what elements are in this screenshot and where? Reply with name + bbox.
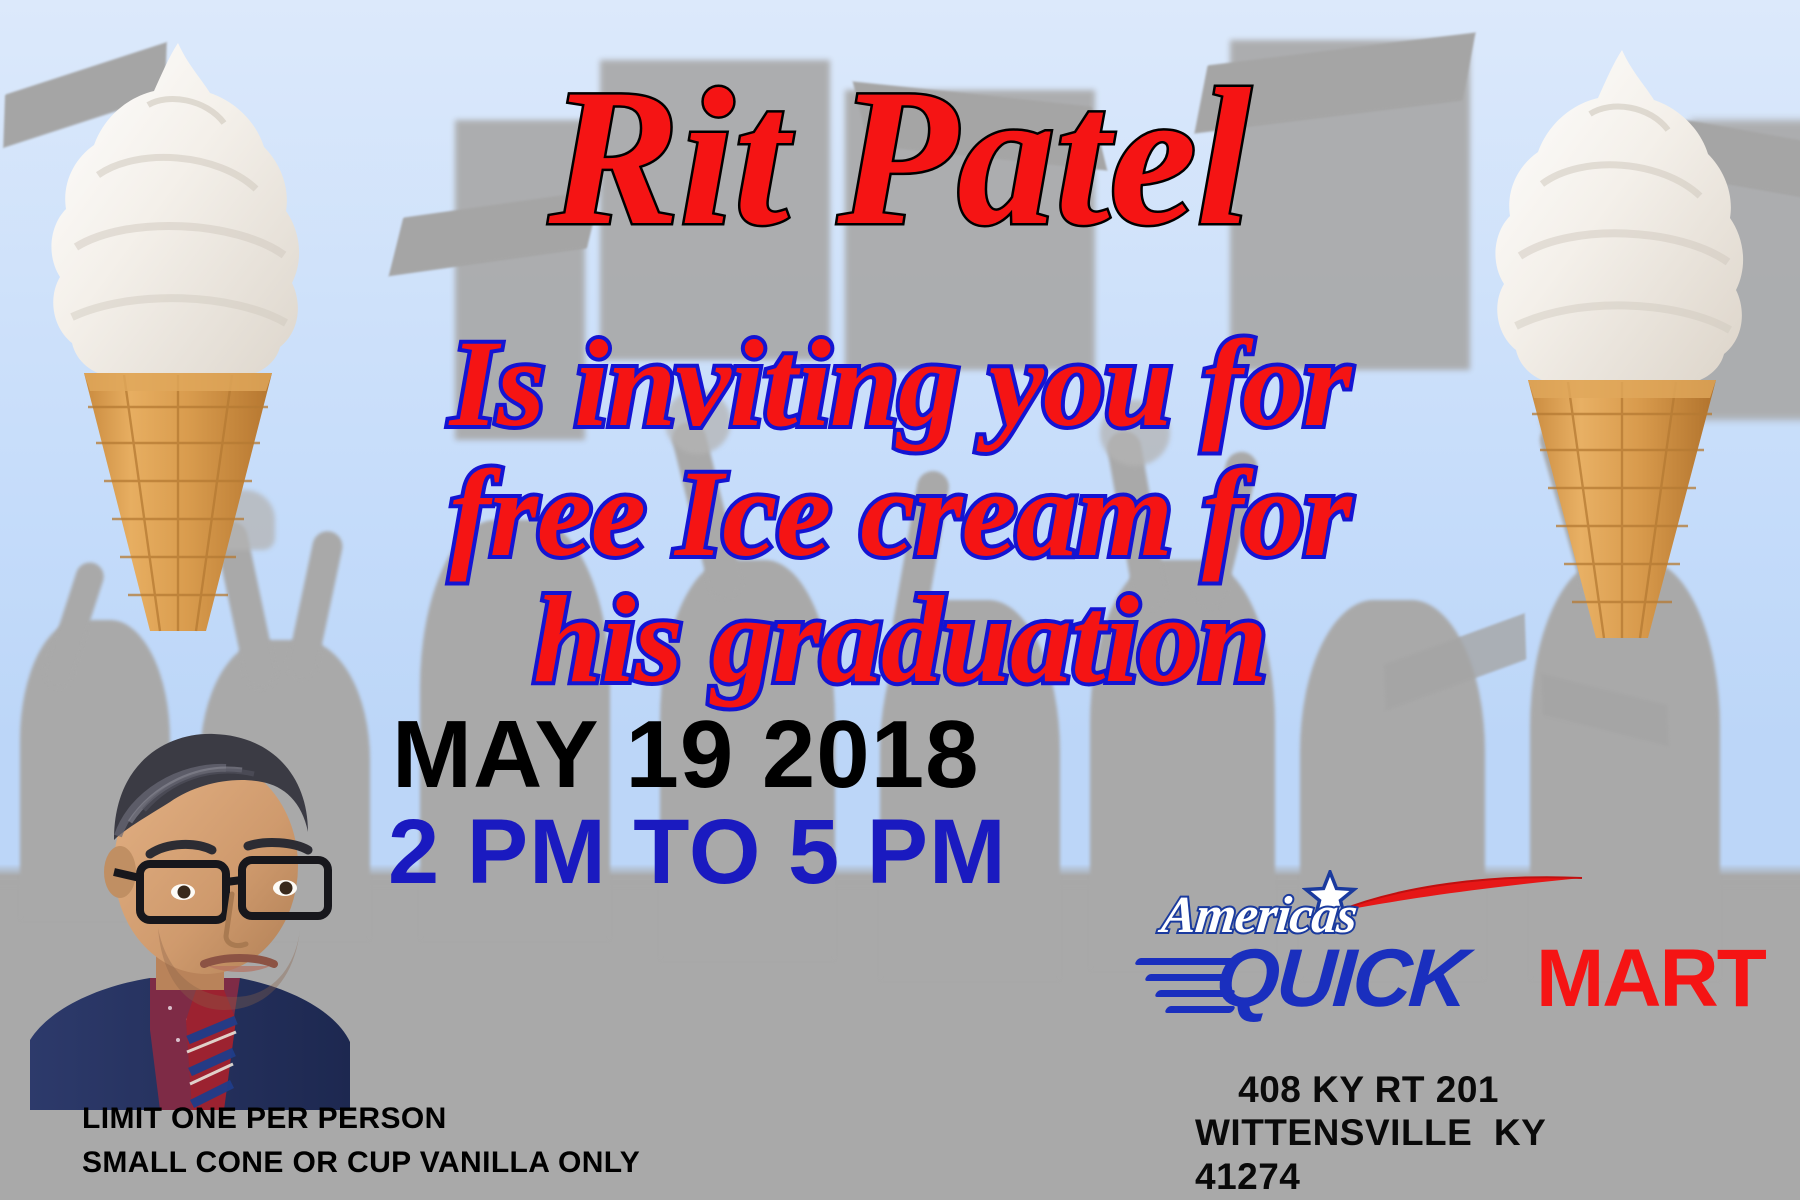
- invite-line-3-text: his graduation: [533, 571, 1267, 708]
- fineprint-line-1: LIMIT ONE PER PERSON: [82, 1102, 447, 1136]
- graduation-invitation-poster: Rit Patel Is inviting you for free Ice c…: [0, 0, 1800, 1200]
- invite-line-3: his graduation: [0, 578, 1800, 702]
- fineprint-line-1-text: LIMIT ONE PER PERSON: [82, 1102, 447, 1135]
- brand-quick: QUICK: [1213, 932, 1469, 1026]
- brand-quick-text: QUICK: [1213, 933, 1469, 1024]
- invite-line-1: Is inviting you for: [0, 322, 1800, 446]
- store-address-text: 408 KY RT 201 WITTENSVILLE KY 41274: [1195, 1069, 1546, 1197]
- store-address: 408 KY RT 201 WITTENSVILLE KY 41274: [1195, 1024, 1546, 1200]
- americas-quick-mart-logo: Americas QUICK MART: [1150, 880, 1770, 1020]
- invite-line-2: free Ice cream for: [0, 452, 1800, 576]
- invite-line-1-text: Is inviting you for: [450, 315, 1351, 452]
- fineprint-line-2: SMALL CONE OR CUP VANILLA ONLY: [82, 1146, 640, 1180]
- event-date: MAY 19 2018: [392, 700, 979, 810]
- graduate-portrait: [10, 690, 350, 1110]
- event-date-text: MAY 19 2018: [392, 701, 979, 808]
- page-title: Rit Patel: [0, 60, 1800, 256]
- headline-text: Rit Patel: [549, 49, 1251, 266]
- red-swoosh-icon: [1330, 872, 1590, 918]
- event-time: 2 PM TO 5 PM: [388, 800, 1007, 905]
- invite-line-2-text: free Ice cream for: [449, 445, 1350, 582]
- brand-mart: MART: [1536, 932, 1765, 1026]
- event-time-text: 2 PM TO 5 PM: [388, 801, 1007, 903]
- brand-mart-text: MART: [1536, 933, 1765, 1024]
- fineprint-line-2-text: SMALL CONE OR CUP VANILLA ONLY: [82, 1146, 640, 1179]
